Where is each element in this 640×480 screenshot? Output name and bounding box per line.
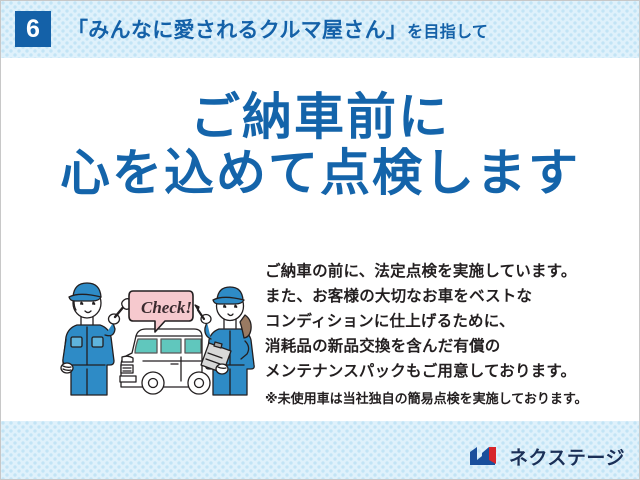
header-title: 「みんなに愛されるクルマ屋さん」 を目指して [67, 14, 488, 44]
mechanics-illustration: Check! [59, 269, 264, 401]
brand-name: ネクステージ [509, 443, 625, 470]
nextage-n-mark [468, 444, 502, 468]
vehicle-illustration [120, 329, 210, 394]
body-line-5: メンテナンスパックもご用意しております。 [265, 359, 617, 384]
page-title: ご納車前に 心を込めて点検します [1, 89, 639, 201]
body-copy: ご納車の前に、法定点検を実施しています。 また、お客様の大切なお車をベストな コ… [265, 259, 617, 409]
step-number-badge: 6 [15, 11, 51, 47]
body-disclaimer-note: ※未使用車は当社独自の簡易点検を実施しております。 [265, 388, 617, 409]
body-line-4: 消耗品の新品交換を含んだ有償の [265, 334, 617, 359]
body-line-3: コンディションに仕上げるために、 [265, 309, 617, 334]
body-line-2: また、お客様の大切なお車をベストな [265, 284, 617, 309]
header-title-main: 「みんなに愛されるクルマ屋さん」 [67, 14, 407, 44]
headline-line-1: ご納車前に [1, 89, 639, 145]
advertisement-page: 6 「みんなに愛されるクルマ屋さん」 を目指して ご納車前に 心を込めて点検しま… [0, 0, 640, 480]
body-line-1: ご納車の前に、法定点検を実施しています。 [265, 259, 617, 284]
brand-logo: ネクステージ [468, 441, 625, 471]
header: 6 「みんなに愛されるクルマ屋さん」 を目指して [15, 10, 488, 48]
header-title-suffix: を目指して [407, 18, 488, 42]
headline-line-2: 心を込めて点検します [1, 145, 639, 201]
check-bubble-text: Check! [141, 298, 192, 317]
